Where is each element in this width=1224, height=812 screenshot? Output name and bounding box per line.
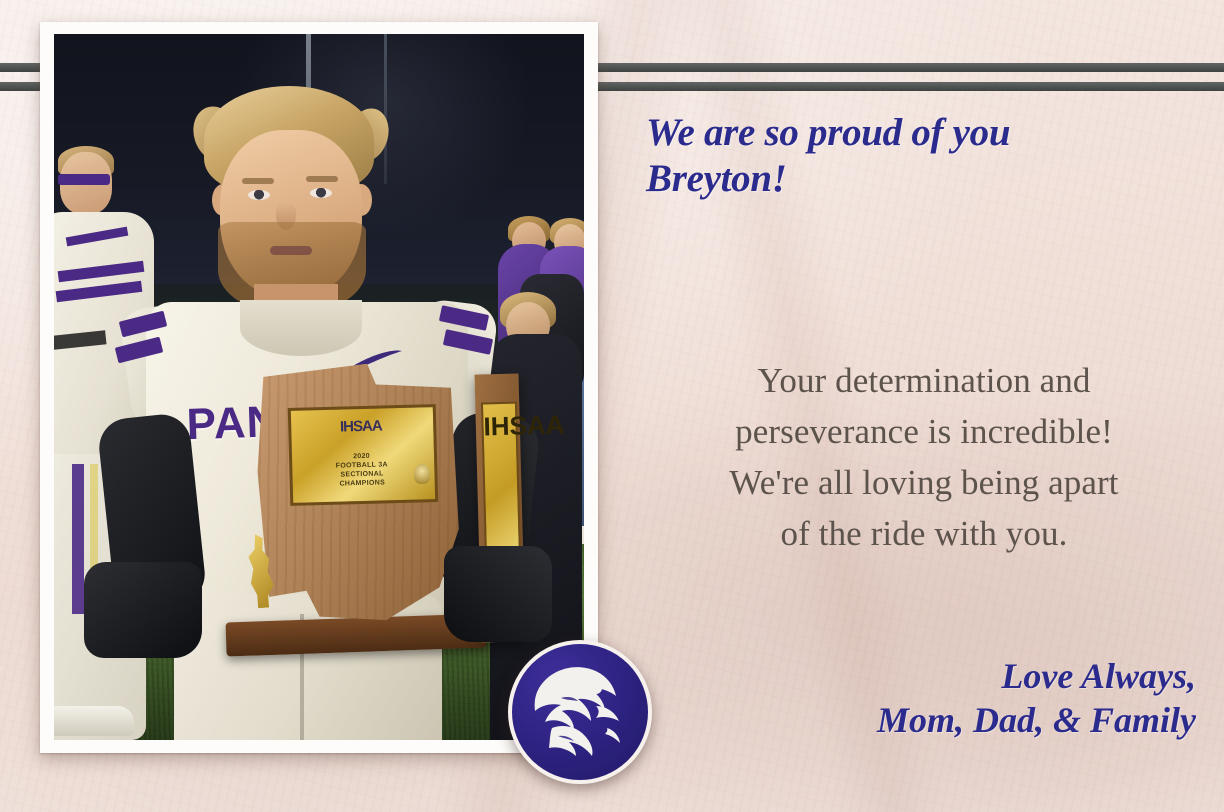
plaque-plate-line-1: 2020 <box>353 453 370 460</box>
signoff-line-2: Mom, Dad, & Family <box>676 698 1196 742</box>
light-pole-secondary-icon <box>384 34 387 184</box>
message-column: We are so proud of you Breyton! Your det… <box>646 110 1202 790</box>
player-jersey-collar <box>240 300 362 356</box>
panther-head-logo-badge <box>508 640 652 784</box>
body-line-2: perseverance is incredible! <box>660 406 1188 457</box>
plaque-plate-line-4: CHAMPIONS <box>339 479 385 487</box>
body-line-3: We're all loving being apart <box>660 457 1188 508</box>
headline-line-2: Breyton! <box>646 156 1202 202</box>
signoff-line-1: Love Always, <box>676 654 1196 698</box>
body-message: Your determination and perseverance is i… <box>660 355 1188 559</box>
headline-line-1: We are so proud of you <box>646 110 1202 156</box>
player-eye-left <box>248 190 270 200</box>
photo-frame: PANTHERS IHSAA 2020 FOOTBALL 3A SECTIONA… <box>40 22 598 753</box>
headline: We are so proud of you Breyton! <box>646 110 1202 202</box>
plaque-plate-text: 2020 FOOTBALL 3A SECTIONAL CHAMPIONS <box>311 451 412 496</box>
teammate-headband <box>58 174 110 185</box>
body-line-4: of the ride with you. <box>660 508 1188 559</box>
teammate-pant-stripe <box>72 464 84 614</box>
player-eyebrow-left <box>242 178 274 184</box>
body-line-1: Your determination and <box>660 355 1188 406</box>
player-glove-left <box>84 562 202 658</box>
player-eyebrow-right <box>306 176 338 182</box>
player-glove-right <box>444 546 552 642</box>
player-eye-right <box>310 188 332 198</box>
plaque-plate-line-3: SECTIONAL <box>340 470 383 478</box>
tribute-ad-page: PANTHERS IHSAA 2020 FOOTBALL 3A SECTIONA… <box>0 0 1224 812</box>
player-mouth <box>270 246 312 255</box>
plaque-seal-icon <box>414 464 431 484</box>
teammate-cleat <box>54 706 134 736</box>
championship-photo: PANTHERS IHSAA 2020 FOOTBALL 3A SECTIONA… <box>54 34 584 740</box>
signoff: Love Always, Mom, Dad, & Family <box>676 654 1196 742</box>
plaque-ihsaa-logo: IHSAA <box>334 417 389 448</box>
plaque-plate-line-2: FOOTBALL 3A <box>336 461 388 469</box>
